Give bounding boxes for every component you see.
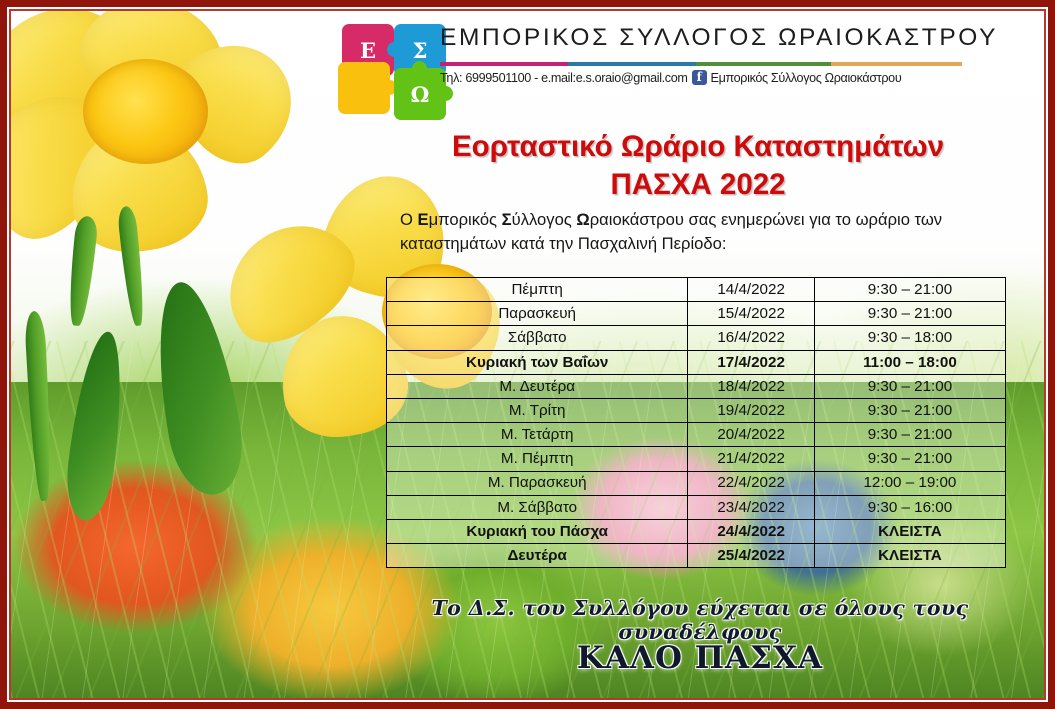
cell-day: Μ. Πέμπτη bbox=[387, 447, 688, 471]
table-row: Πέμπτη14/4/20229:30 – 21:00 bbox=[387, 278, 1006, 302]
cell-day: Παρασκευή bbox=[387, 302, 688, 326]
cell-day: Μ. Σάββατο bbox=[387, 495, 688, 519]
cell-day: Πέμπτη bbox=[387, 278, 688, 302]
schedule-table: Πέμπτη14/4/20229:30 – 21:00Παρασκευή15/4… bbox=[386, 277, 1006, 568]
table-row: Μ. Δευτέρα18/4/20229:30 – 21:00 bbox=[387, 374, 1006, 398]
puzzle-piece-omega: Ω bbox=[394, 68, 446, 120]
cell-date: 14/4/2022 bbox=[688, 278, 815, 302]
table-row: Μ. Πέμπτη21/4/20229:30 – 21:00 bbox=[387, 447, 1006, 471]
rule-segment-magenta bbox=[440, 62, 568, 66]
cell-hours: 9:30 – 21:00 bbox=[814, 278, 1005, 302]
facebook-page-name: Εμπορικός Σύλλογος Ωραιοκάστρου bbox=[711, 71, 902, 85]
table-row: Κυριακή των Βαΐων17/4/202211:00 – 18:00 bbox=[387, 350, 1006, 374]
cell-hours: 9:30 – 18:00 bbox=[814, 326, 1005, 350]
intro-text: Ο bbox=[400, 210, 418, 229]
board-wish-text: Το Δ.Σ. του Συλλόγου εύχεται σε όλους το… bbox=[395, 596, 1005, 644]
cell-hours: 9:30 – 21:00 bbox=[814, 302, 1005, 326]
cell-hours: 9:30 – 16:00 bbox=[814, 495, 1005, 519]
cell-day: Μ. Δευτέρα bbox=[387, 374, 688, 398]
cell-date: 16/4/2022 bbox=[688, 326, 815, 350]
title-line-2: ΠΑΣΧΑ 2022 bbox=[398, 166, 998, 204]
easter-hours-poster: Ε Σ Ω ΕΜΠΟΡΙΚΟΣ ΣΥΛΛΟΓΟΣ ΩΡΑΙΟΚΑΣΤΡΟΥ Τη… bbox=[0, 0, 1055, 709]
cell-day: Σάββατο bbox=[387, 326, 688, 350]
cell-date: 25/4/2022 bbox=[688, 544, 815, 568]
phone-and-email-text: Τηλ: 6999501100 - e.mail:e.s.oraio@gmail… bbox=[440, 71, 688, 85]
contact-line: Τηλ: 6999501100 - e.mail:e.s.oraio@gmail… bbox=[440, 70, 968, 85]
poster-title: Εορταστικό Ωράριο Καταστημάτων ΠΑΣΧΑ 202… bbox=[398, 128, 998, 204]
intro-bold-e: Ε bbox=[418, 210, 429, 229]
cell-hours: 11:00 – 18:00 bbox=[814, 350, 1005, 374]
table-row: Μ. Τετάρτη20/4/20229:30 – 21:00 bbox=[387, 423, 1006, 447]
cell-day: Κυριακή του Πάσχα bbox=[387, 519, 688, 543]
cell-date: 24/4/2022 bbox=[688, 519, 815, 543]
intro-text: ύλλογος bbox=[512, 210, 577, 229]
cell-day: Μ. Παρασκευή bbox=[387, 471, 688, 495]
intro-bold-o: Ω bbox=[576, 210, 589, 229]
cell-date: 18/4/2022 bbox=[688, 374, 815, 398]
cell-hours: ΚΛΕΙΣΤΑ bbox=[814, 519, 1005, 543]
table-row: Μ. Τρίτη19/4/20229:30 – 21:00 bbox=[387, 398, 1006, 422]
puzzle-piece-blank bbox=[338, 62, 390, 114]
intro-text: μπορικός bbox=[429, 210, 502, 229]
title-line-1: Εορταστικό Ωράριο Καταστημάτων bbox=[398, 128, 998, 166]
cell-date: 21/4/2022 bbox=[688, 447, 815, 471]
intro-paragraph: Ο Εμπορικός Σύλλογος Ωραιοκάστρου σας εν… bbox=[400, 208, 1000, 255]
cell-day: Κυριακή των Βαΐων bbox=[387, 350, 688, 374]
logo-letter: Σ bbox=[413, 40, 428, 61]
rule-segment-green bbox=[696, 62, 832, 66]
intro-bold-s: Σ bbox=[502, 210, 512, 229]
happy-easter-greeting: ΚΑΛΟ ΠΑΣΧΑ bbox=[395, 640, 1005, 676]
cell-day: Δευτέρα bbox=[387, 544, 688, 568]
cell-hours: ΚΛΕΙΣΤΑ bbox=[814, 544, 1005, 568]
cell-date: 23/4/2022 bbox=[688, 495, 815, 519]
cell-date: 15/4/2022 bbox=[688, 302, 815, 326]
cell-hours: 9:30 – 21:00 bbox=[814, 374, 1005, 398]
cell-hours: 12:00 – 19:00 bbox=[814, 471, 1005, 495]
table-row: Σάββατο16/4/20229:30 – 18:00 bbox=[387, 326, 1006, 350]
logo-letter: Ω bbox=[411, 84, 430, 105]
cell-hours: 9:30 – 21:00 bbox=[814, 447, 1005, 471]
cell-day: Μ. Τρίτη bbox=[387, 398, 688, 422]
table-row: Παρασκευή15/4/20229:30 – 21:00 bbox=[387, 302, 1006, 326]
table-row: Μ. Σάββατο23/4/20229:30 – 16:00 bbox=[387, 495, 1006, 519]
table-row: Μ. Παρασκευή22/4/202212:00 – 19:00 bbox=[387, 471, 1006, 495]
rule-segment-blue bbox=[568, 62, 696, 66]
cell-hours: 9:30 – 21:00 bbox=[814, 423, 1005, 447]
cell-date: 20/4/2022 bbox=[688, 423, 815, 447]
facebook-icon[interactable]: f bbox=[692, 70, 707, 85]
cell-date: 22/4/2022 bbox=[688, 471, 815, 495]
cell-date: 17/4/2022 bbox=[688, 350, 815, 374]
organization-name: ΕΜΠΟΡΙΚΟΣ ΣΥΛΛΟΓΟΣ ΩΡΑΙΟΚΑΣΤΡΟΥ bbox=[440, 24, 998, 52]
table-row: Δευτέρα25/4/2022ΚΛΕΙΣΤΑ bbox=[387, 544, 1006, 568]
association-logo: Ε Σ Ω bbox=[322, 12, 432, 120]
table-row: Κυριακή του Πάσχα24/4/2022ΚΛΕΙΣΤΑ bbox=[387, 519, 1006, 543]
cell-day: Μ. Τετάρτη bbox=[387, 423, 688, 447]
header-color-rule bbox=[440, 62, 962, 66]
cell-hours: 9:30 – 21:00 bbox=[814, 398, 1005, 422]
cell-date: 19/4/2022 bbox=[688, 398, 815, 422]
logo-letter: Ε bbox=[360, 40, 376, 61]
rule-segment-orange bbox=[831, 62, 962, 66]
